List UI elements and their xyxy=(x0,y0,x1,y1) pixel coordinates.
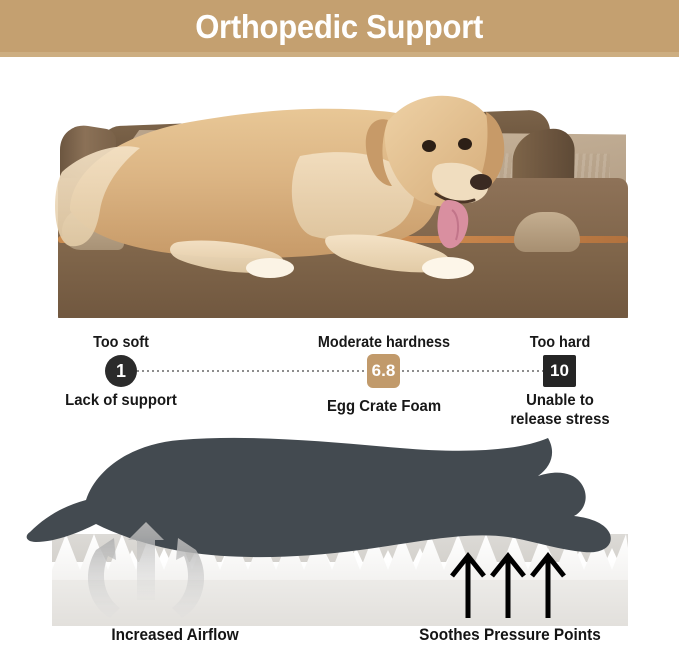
hardness-scale: Too soft 1 Lack of support Moderate hard… xyxy=(0,322,679,430)
scale-right-bottom-line2: release stress xyxy=(487,411,632,430)
scale-left-bottom-label: Lack of support xyxy=(35,392,206,411)
scale-right-bottom-label: Unable to release stress xyxy=(487,392,632,430)
golden-retriever-photo xyxy=(0,60,679,318)
scale-right-top-label: Too hard xyxy=(492,334,628,352)
scale-marker-moderate: 6.8 xyxy=(367,354,400,388)
scale-right-bottom-line1: Unable to xyxy=(487,392,632,411)
scale-middle-bottom-label: Egg Crate Foam xyxy=(298,398,469,417)
dog-eye-right xyxy=(458,138,472,150)
foam-cross-section-diagram: Increased Airflow Soothes Pressure Point… xyxy=(0,430,679,654)
dog-tongue xyxy=(437,200,468,248)
dog-eye-left xyxy=(422,140,436,152)
header-underline xyxy=(0,52,679,57)
scale-dotted-line xyxy=(122,370,560,372)
dog-nose xyxy=(470,174,492,190)
dog-paw-left xyxy=(246,258,294,278)
scale-middle-top-label: Moderate hardness xyxy=(297,334,472,352)
pressure-points-caption: Soothes Pressure Points xyxy=(371,626,650,645)
scale-marker-too-hard: 10 xyxy=(543,355,576,387)
airflow-caption: Increased Airflow xyxy=(40,626,310,645)
pressure-arrows xyxy=(452,556,564,618)
header-banner: Orthopedic Support xyxy=(0,0,679,52)
product-photo xyxy=(0,60,679,318)
page-title: Orthopedic Support xyxy=(196,10,484,43)
scale-marker-too-soft: 1 xyxy=(105,355,137,387)
scale-left-top-label: Too soft xyxy=(50,334,191,352)
dog-paw-right xyxy=(422,257,474,279)
